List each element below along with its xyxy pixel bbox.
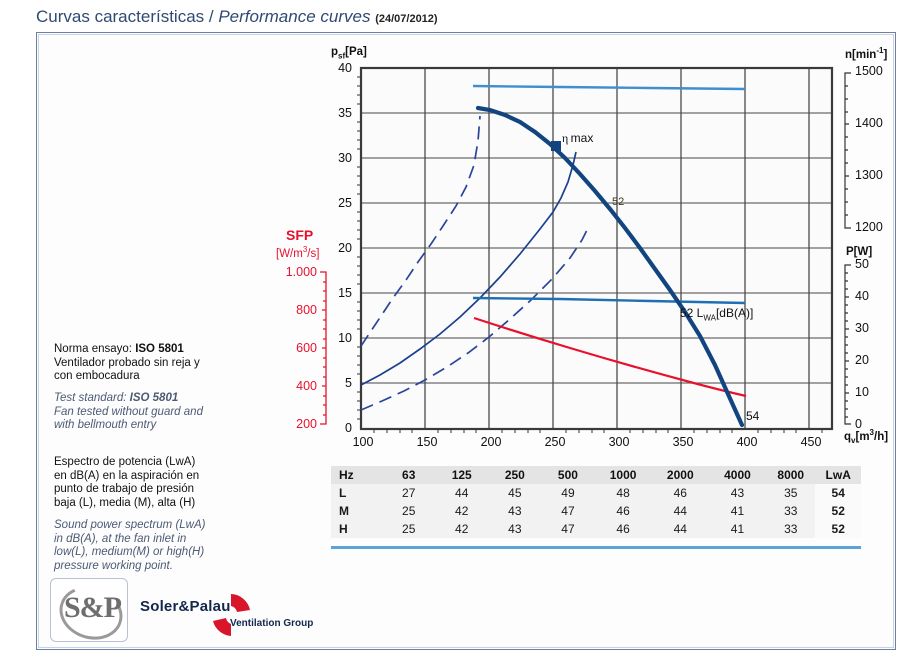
- table-underline: [331, 546, 861, 549]
- y-axis-speed-label: n[min-1]: [845, 46, 887, 61]
- sound-spectrum-en-line4: pressure working point.: [54, 560, 173, 572]
- cell-l-63: 27: [382, 484, 435, 502]
- sound-spectrum-es-line1: Espectro de potencia (LwA): [54, 456, 195, 468]
- eta-max-label: η max: [562, 131, 593, 146]
- cell-l-2000: 46: [652, 484, 709, 502]
- power-tick-20: 20: [855, 353, 869, 367]
- sp-logo-text: S&P: [64, 591, 121, 625]
- x-tick-150: 150: [411, 435, 443, 449]
- page-title-date: (24/07/2012): [375, 13, 437, 25]
- th-63: 63: [382, 466, 435, 484]
- sfp-axis-label: SFP: [286, 227, 313, 243]
- test-standard-es: Norma ensayo: ISO 5801 Ventilador probad…: [54, 343, 254, 384]
- cell-h-500: 47: [541, 520, 594, 538]
- power-tick-10: 10: [855, 385, 869, 399]
- sound-spectrum-es-line3: punto de trabajo de presión: [54, 483, 194, 495]
- speed-tick-1200: 1200: [855, 220, 883, 234]
- power-tick-50: 50: [855, 257, 869, 271]
- cell-m-1000: 46: [595, 502, 652, 520]
- row-label-l: L: [331, 484, 382, 502]
- row-label-m: M: [331, 502, 382, 520]
- sp-logo-mark: S&P: [57, 585, 121, 635]
- cell-m-4000: 41: [709, 502, 766, 520]
- cell-h-lwa: 52: [815, 520, 861, 538]
- sound-spectrum-table: Hz 63 125 250 500 1000 2000 4000 8000 Lw…: [331, 466, 861, 538]
- y-tick-10: 10: [328, 331, 352, 345]
- cell-h-1000: 46: [595, 520, 652, 538]
- cell-h-250: 43: [488, 520, 541, 538]
- power-tick-30: 30: [855, 321, 869, 335]
- speed-tick-1300: 1300: [855, 168, 883, 182]
- sound-spectrum-en-line3: low(L), medium(M) or high(H): [54, 546, 204, 558]
- cell-l-8000: 35: [766, 484, 815, 502]
- x-tick-400: 400: [731, 435, 763, 449]
- brand-name: Soler&Palau: [140, 598, 231, 615]
- y-tick-20: 20: [328, 241, 352, 255]
- lwa-annotation-lower: 52 LWA[dB(A)]: [680, 306, 753, 322]
- x-tick-450: 450: [795, 435, 827, 449]
- sound-spectrum-en-line2: in dB(A), at the fan inlet in: [54, 533, 186, 545]
- test-standard-es-line2: Ventilador probado sin reja y: [54, 357, 200, 369]
- sfp-axis-unit: [W/m3/s]: [276, 245, 319, 260]
- th-500: 500: [541, 466, 594, 484]
- test-standard-es-label: Norma ensayo:: [54, 343, 135, 355]
- sfp-tick-600: 600: [263, 341, 317, 355]
- cell-m-250: 43: [488, 502, 541, 520]
- table-row: L 27 44 45 49 48 46 43 35 54: [331, 484, 861, 502]
- th-250: 250: [488, 466, 541, 484]
- x-tick-250: 250: [539, 435, 571, 449]
- cell-m-8000: 33: [766, 502, 815, 520]
- cell-l-lwa: 54: [815, 484, 861, 502]
- sound-spectrum-note-es: Espectro de potencia (LwA) en dB(A) en l…: [54, 456, 264, 510]
- test-standard-en: Test standard: ISO 5801 Fan tested witho…: [54, 392, 254, 433]
- y-tick-25: 25: [328, 196, 352, 210]
- th-4000: 4000: [709, 466, 766, 484]
- y-tick-35: 35: [328, 106, 352, 120]
- sfp-tick-1000: 1.000: [263, 265, 317, 279]
- y-tick-5: 5: [328, 376, 352, 390]
- test-standard-en-value: ISO 5801: [130, 392, 179, 404]
- brand-tagline: Ventilation Group: [230, 618, 313, 629]
- page-title-en: Performance curves: [218, 7, 370, 26]
- power-tick-0: 0: [855, 417, 862, 431]
- x-tick-200: 200: [475, 435, 507, 449]
- test-standard-es-value: ISO 5801: [135, 343, 184, 355]
- test-standard-en-label: Test standard:: [54, 392, 130, 404]
- sound-spectrum-es-line4: baja (L), media (M), alta (H): [54, 497, 195, 509]
- y-tick-0: 0: [328, 421, 352, 435]
- table-header-row: Hz 63 125 250 500 1000 2000 4000 8000 Lw…: [331, 466, 861, 484]
- sfp-tick-800: 800: [263, 303, 317, 317]
- lwa-annotation-upper: 52: [612, 196, 624, 208]
- cell-l-1000: 48: [595, 484, 652, 502]
- sound-spectrum-es-line2: en dB(A) en la aspiración en: [54, 470, 199, 482]
- test-standard-en-line3: with bellmouth entry: [54, 419, 156, 431]
- sfp-tick-200: 200: [263, 417, 317, 431]
- cell-m-lwa: 52: [815, 502, 861, 520]
- speed-tick-1400: 1400: [855, 116, 883, 130]
- cell-m-125: 42: [435, 502, 488, 520]
- cell-m-63: 25: [382, 502, 435, 520]
- th-2000: 2000: [652, 466, 709, 484]
- power-tick-40: 40: [855, 289, 869, 303]
- th-125: 125: [435, 466, 488, 484]
- cell-h-8000: 33: [766, 520, 815, 538]
- cell-h-2000: 44: [652, 520, 709, 538]
- th-8000: 8000: [766, 466, 815, 484]
- sp-logo-box: S&P: [50, 578, 128, 642]
- cell-h-4000: 41: [709, 520, 766, 538]
- th-hz: Hz: [331, 466, 382, 484]
- x-tick-100: 100: [347, 435, 379, 449]
- cell-l-125: 44: [435, 484, 488, 502]
- page-title: Curvas características / Performance cur…: [36, 7, 438, 27]
- sfp-tick-400: 400: [263, 379, 317, 393]
- th-lwa: LwA: [815, 466, 861, 484]
- cell-m-500: 47: [541, 502, 594, 520]
- y-tick-30: 30: [328, 151, 352, 165]
- test-standard-es-line3: con embocadura: [54, 370, 140, 382]
- cell-h-63: 25: [382, 520, 435, 538]
- page-title-es: Curvas características: [36, 7, 204, 26]
- x-axis-label: qv[m3/h]: [844, 428, 888, 445]
- cell-l-250: 45: [488, 484, 541, 502]
- y-axis-pressure-label: psf[Pa]: [331, 46, 367, 60]
- page-title-separator: /: [204, 7, 218, 26]
- speed-tick-1500: 1500: [855, 64, 883, 78]
- cell-l-4000: 43: [709, 484, 766, 502]
- th-1000: 1000: [595, 466, 652, 484]
- sound-spectrum-en-line1: Sound power spectrum (LwA): [54, 519, 205, 531]
- y-tick-15: 15: [328, 286, 352, 300]
- lwa-annotation-end: 54: [746, 409, 759, 423]
- table-row: M 25 42 43 47 46 44 41 33 52: [331, 502, 861, 520]
- cell-l-500: 49: [541, 484, 594, 502]
- datasheet-page: Curvas características / Performance cur…: [0, 0, 908, 661]
- table-row: H 25 42 43 47 46 44 41 33 52: [331, 520, 861, 538]
- cell-h-125: 42: [435, 520, 488, 538]
- sound-spectrum-note-en: Sound power spectrum (LwA) in dB(A), at …: [54, 519, 264, 573]
- test-standard-en-line2: Fan tested without guard and: [54, 406, 203, 418]
- x-tick-300: 300: [603, 435, 635, 449]
- x-tick-350: 350: [667, 435, 699, 449]
- row-label-h: H: [331, 520, 382, 538]
- cell-m-2000: 44: [652, 502, 709, 520]
- y-tick-40: 40: [328, 61, 352, 75]
